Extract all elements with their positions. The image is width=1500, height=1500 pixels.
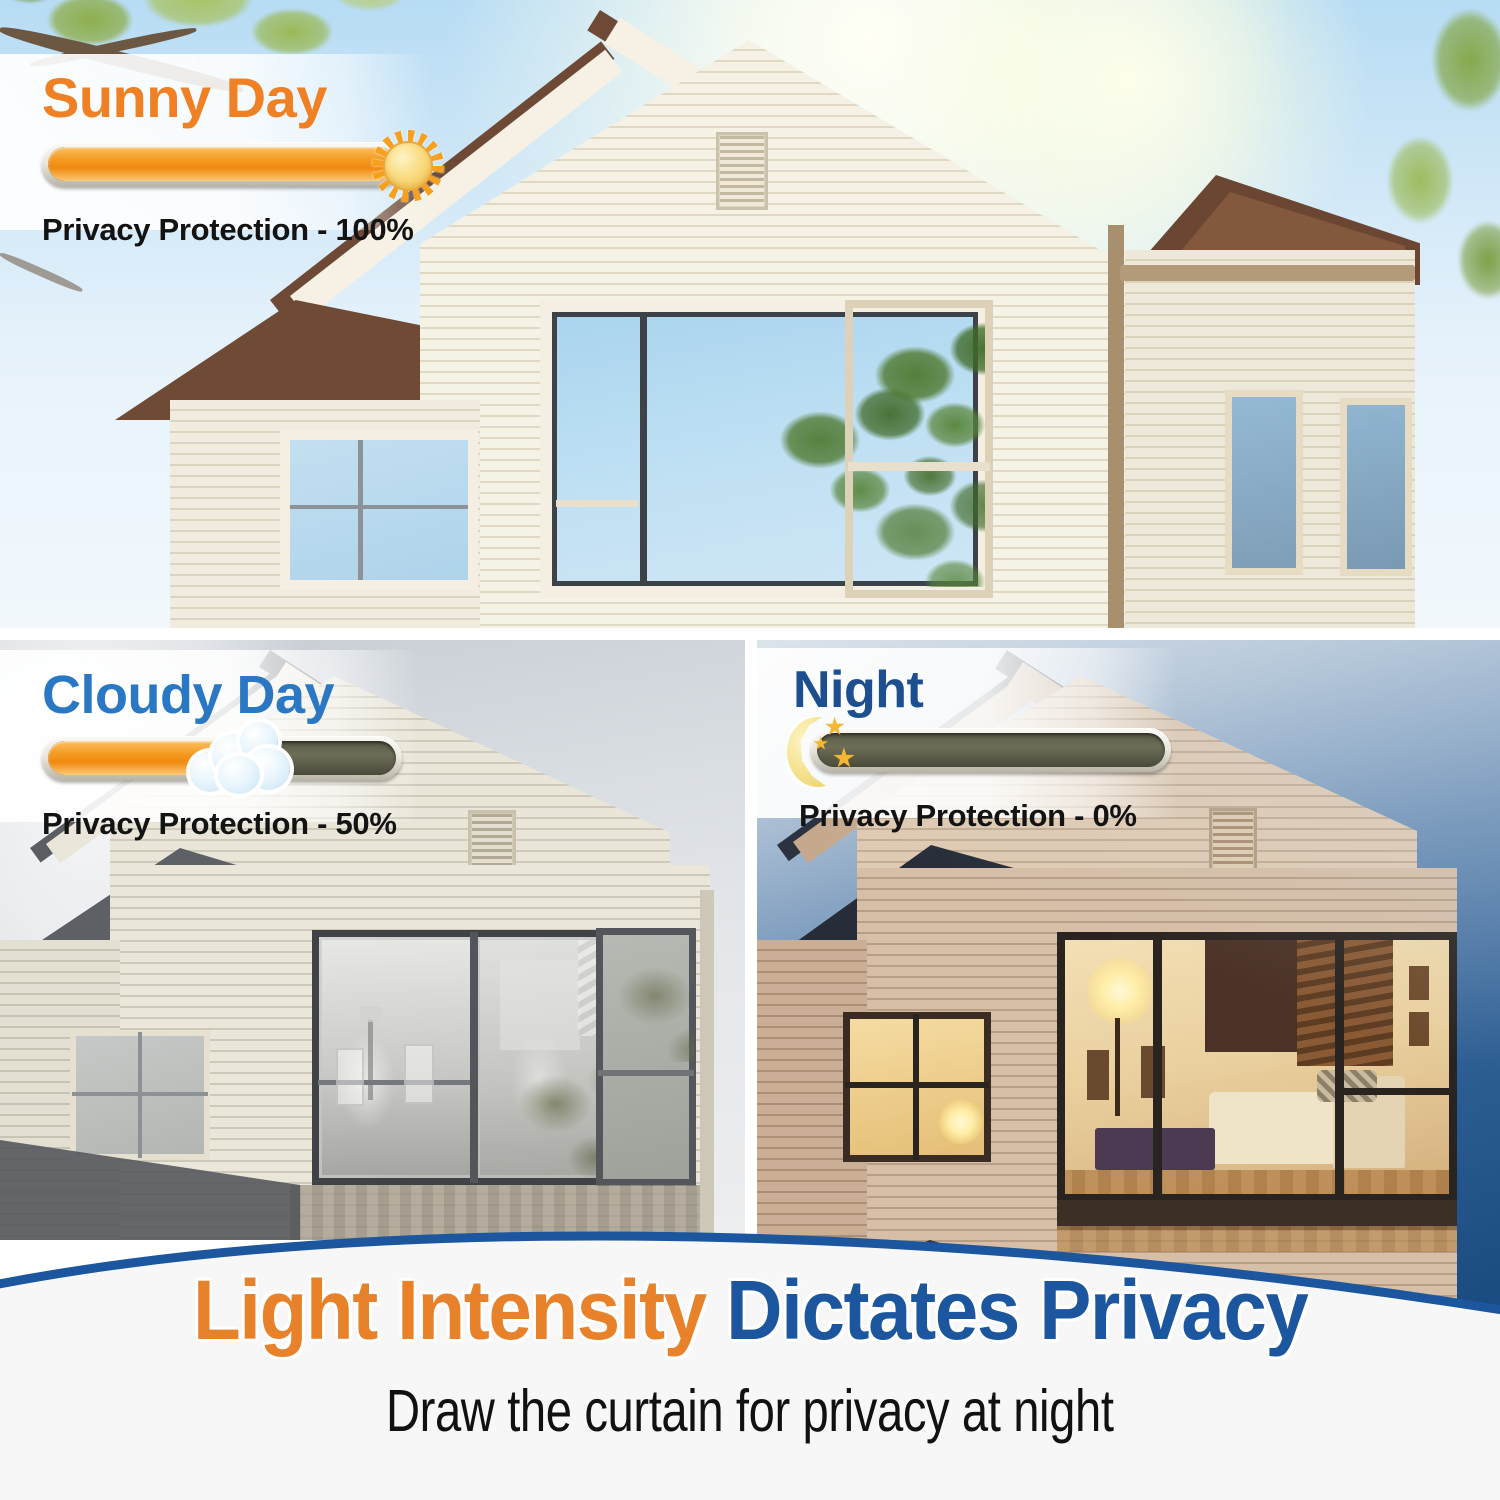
night-left-window-mullion-h [845,1082,989,1088]
night-window-mullion-1 [1153,932,1162,1202]
left-window-divider-v [358,440,363,580]
gutter [1120,265,1415,281]
cloudy-right-tree-reflection [600,932,694,1062]
sunny-title: Sunny Day [42,70,512,126]
far-right-window-glass-2 [1347,405,1405,569]
vent-slats [720,136,764,206]
night-window-outer-frame [1057,932,1457,1202]
night-window-mullion-2 [1335,932,1344,1202]
cloud-icon [188,718,298,796]
sunny-caption: Privacy Protection - 100% [42,214,512,245]
cloudy-window-mullion-v [470,932,478,1183]
footer-headline: Light Intensity Dictates Privacy [193,1268,1308,1352]
footer-text-group: Light Intensity Dictates Privacy Draw th… [0,1210,1500,1500]
night-label-group: Night Privacy Protection - 0% [793,664,1263,831]
sunny-bar-fill [48,147,396,181]
cloudy-downspout [700,890,714,1240]
window-divider-horizontal [556,500,638,507]
window-divider-vertical [640,312,647,586]
cloudy-title: Cloudy Day [42,668,512,722]
downspout [1108,225,1124,628]
footer-headline-part1: Light Intensity [193,1263,706,1357]
infographic-stage: Sunny Day Privacy Protection - 100% [0,0,1500,1500]
night-title: Night [793,664,1263,716]
sunny-label-group: Sunny Day Privacy Protection - 100% [42,70,512,245]
night-caption: Privacy Protection - 0% [799,800,1263,831]
night-window-mullion-3 [1343,1088,1455,1095]
cloudy-caption: Privacy Protection - 50% [42,808,512,839]
night-bar-track [817,733,1165,767]
cloud-puff [218,756,260,794]
tree-reflection-right-upper [855,315,985,465]
sun-icon [372,130,444,202]
panel-cloudy-day: Cloudy Day Privacy Protection - 50% [0,640,745,1240]
panel-sunny-day: Sunny Day Privacy Protection - 100% [0,0,1500,628]
cloudy-interior-wall-panel [500,960,580,1050]
gable-vent [716,132,768,210]
cloudy-label-group: Cloudy Day Privacy Protection - 50% [42,668,512,839]
moon-star-3 [833,747,855,769]
sun-disc [383,141,433,191]
moon-crescent [787,717,849,787]
footer-caption-band: Light Intensity Dictates Privacy Draw th… [0,1210,1500,1500]
sunny-bar-track [48,147,396,181]
sunny-progress-bar [42,142,512,192]
moon-star-2 [813,736,828,751]
cloudy-interior-lamp-pole [368,1020,373,1100]
tree-reflection-right-lower [855,472,985,587]
footer-subline: Draw the curtain for privacy at night [386,1382,1114,1441]
cloudy-interior-chair-1 [336,1048,364,1106]
moon-icon [787,712,869,792]
moon-star-1 [825,717,845,737]
sunny-bar-shell [42,142,402,186]
left-window-glass [290,440,468,580]
night-progress-bar [793,728,1263,778]
footer-headline-part2: Dictates Privacy [726,1263,1307,1357]
cloudy-interior-chair-2 [404,1044,434,1104]
cloudy-left-window-divider-h [72,1092,208,1096]
cloudy-right-window-divider [598,1070,694,1076]
left-window-divider-h [290,505,468,509]
far-right-window-glass-1 [1232,397,1296,568]
cloudy-progress-bar [42,736,512,786]
night-window-glow [939,1100,983,1144]
cloudy-interior-lamp-shade [360,1006,382,1022]
